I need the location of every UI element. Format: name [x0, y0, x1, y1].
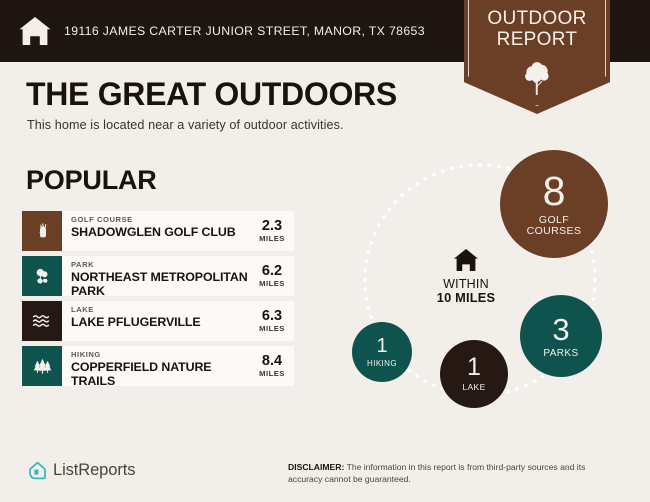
distance-value: 6.3 [262, 309, 282, 324]
distance-value: 6.2 [262, 264, 282, 279]
golf-bag-icon [22, 211, 62, 251]
bubble-label-2: COURSES [527, 226, 582, 237]
disclaimer: DISCLAIMER: The information in this repo… [288, 462, 618, 485]
list-item[interactable]: LAKE LAKE PFLUGERVILLE 6.3 MILES [22, 301, 294, 341]
distance-unit: MILES [259, 279, 285, 288]
bubble-label: HIKING [367, 358, 397, 369]
disclaimer-label: DISCLAIMER: [288, 462, 344, 472]
page-subtitle: This home is located near a variety of o… [27, 118, 344, 132]
pine-trees-icon [22, 346, 62, 386]
badge-title-line2: REPORT [464, 29, 610, 50]
bubble-value: 3 [552, 314, 569, 345]
distance-unit: MILES [259, 324, 285, 333]
list-item[interactable]: PARK NORTHEAST METROPOLITAN PARK 6.2 MIL… [22, 256, 294, 296]
listreports-logo-text: ListReports [53, 461, 135, 480]
home-icon [453, 248, 479, 272]
water-waves-icon [22, 301, 62, 341]
bubble-value: 1 [376, 336, 387, 356]
tree-icon [525, 62, 549, 96]
bubble-parks[interactable]: 3 PARKS [520, 295, 602, 377]
section-title-popular: POPULAR [26, 165, 157, 196]
bubble-value: 1 [467, 355, 481, 380]
listreports-logo[interactable]: ListReports [28, 461, 135, 480]
property-address: 19116 JAMES CARTER JUNIOR STREET, MANOR,… [64, 24, 425, 38]
distance-unit: MILES [259, 369, 285, 378]
bubble-golf-courses[interactable]: 8 GOLF COURSES [500, 150, 608, 258]
within-10-miles-chart: WITHIN 10 MILES 8 GOLF COURSES 3 PARKS 1… [330, 140, 630, 430]
distance-value: 8.4 [262, 354, 282, 369]
list-item-distance: 8.4 MILES [250, 346, 294, 386]
list-item-distance: 2.3 MILES [250, 211, 294, 251]
park-trees-icon [22, 256, 62, 296]
distance-value: 2.3 [262, 219, 282, 234]
list-item-distance: 6.2 MILES [250, 256, 294, 296]
bubble-value: 8 [543, 171, 566, 212]
bubble-label: PARKS [543, 348, 578, 359]
bubble-label: LAKE [462, 382, 485, 393]
home-icon [18, 16, 52, 46]
chart-center-line2: 10 MILES [413, 291, 519, 305]
distance-unit: MILES [259, 234, 285, 243]
badge-title: OUTDOOR REPORT [464, 8, 610, 50]
popular-list: GOLF COURSE SHADOWGLEN GOLF CLUB 2.3 MIL… [22, 211, 294, 391]
list-item[interactable]: GOLF COURSE SHADOWGLEN GOLF CLUB 2.3 MIL… [22, 211, 294, 251]
list-item[interactable]: HIKING COPPERFIELD NATURE TRAILS 8.4 MIL… [22, 346, 294, 386]
badge-title-line1: OUTDOOR [464, 8, 610, 29]
listreports-house-icon [28, 461, 47, 480]
page-title: THE GREAT OUTDOORS [26, 76, 397, 113]
bubble-hiking[interactable]: 1 HIKING [352, 322, 412, 382]
chart-center-line1: WITHIN [413, 277, 519, 291]
bubble-lake[interactable]: 1 LAKE [440, 340, 508, 408]
list-item-distance: 6.3 MILES [250, 301, 294, 341]
